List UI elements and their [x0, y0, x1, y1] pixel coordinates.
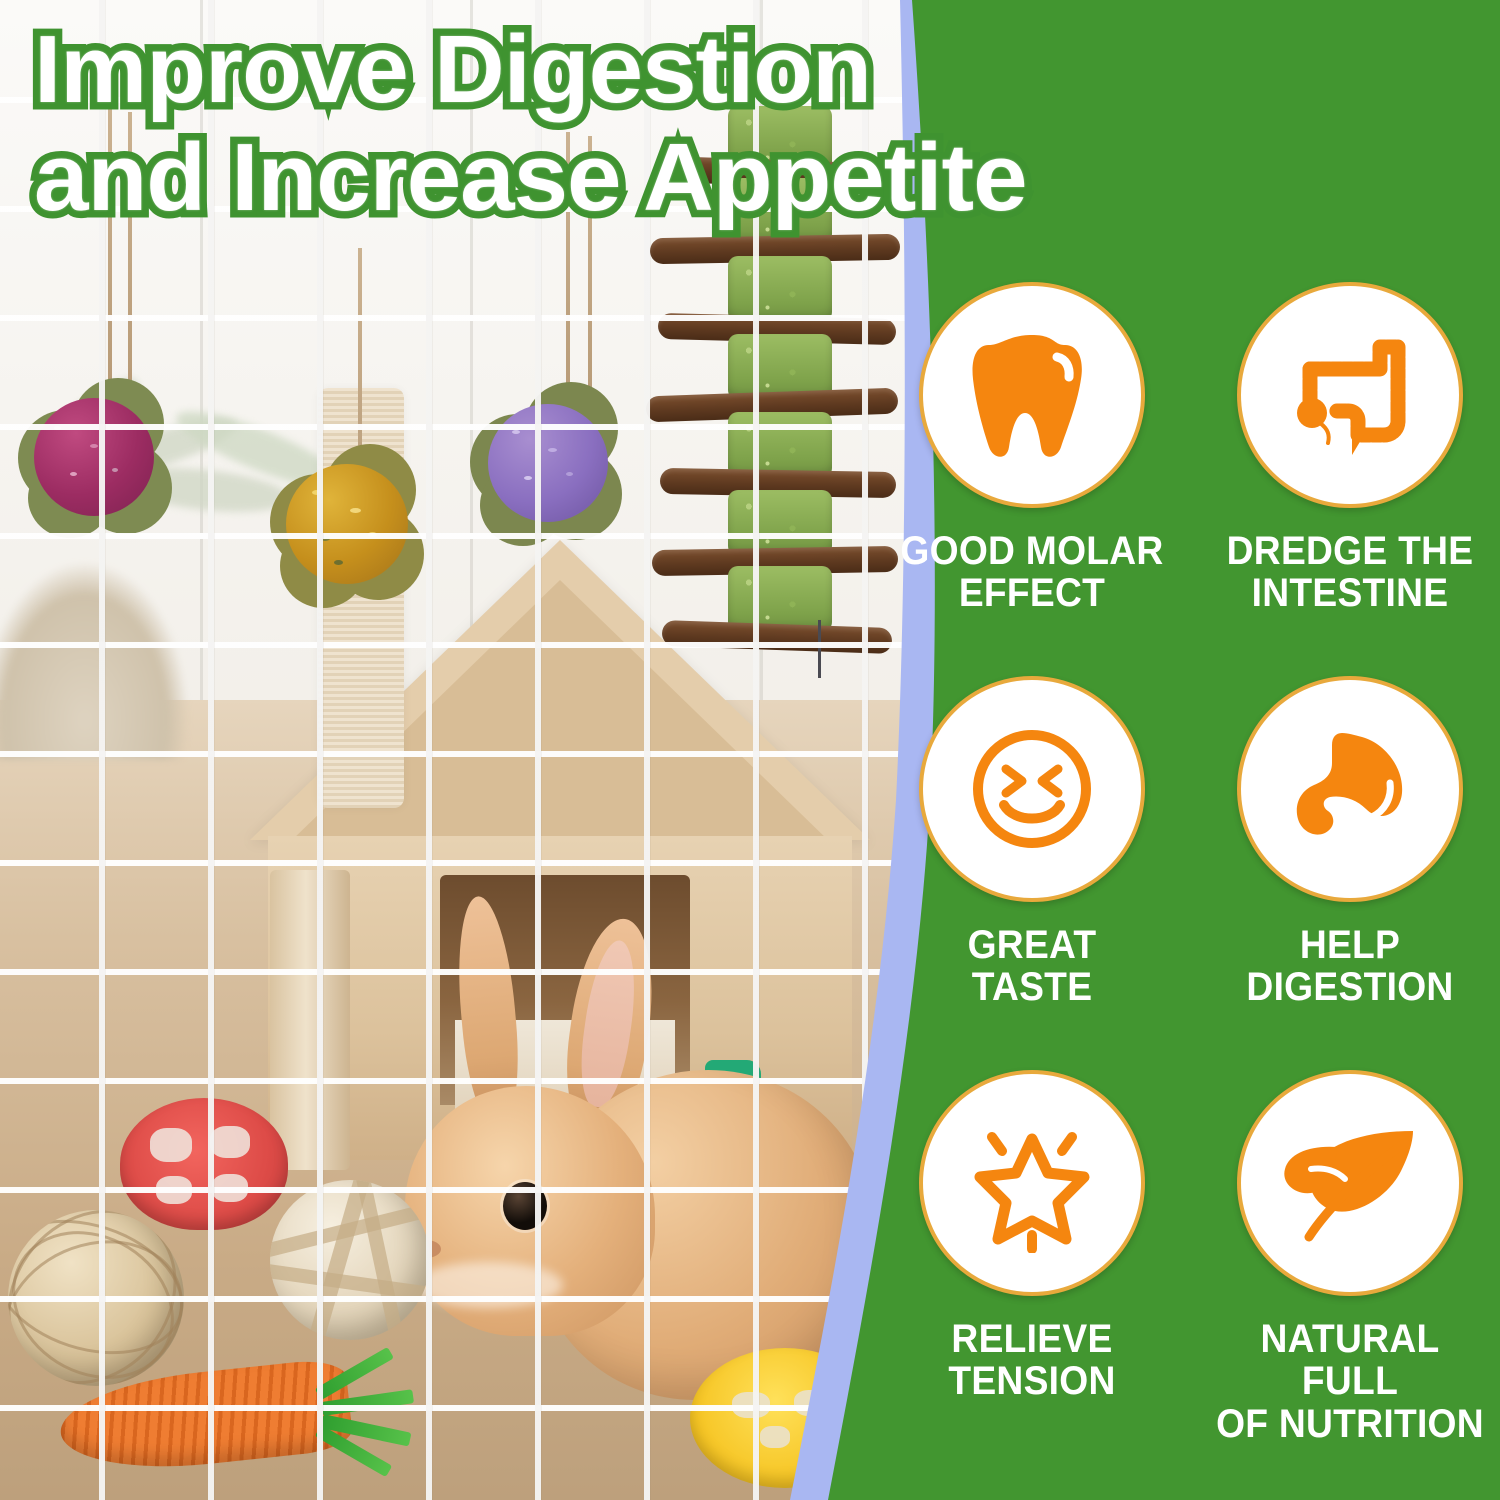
intestine-icon: [1280, 325, 1420, 465]
stomach-icon: [1280, 719, 1420, 859]
benefit-label: GOOD MOLAR EFFECT: [893, 530, 1172, 615]
benefit-label-line2: INTESTINE: [1211, 572, 1490, 614]
infographic-canvas: Improve Digestion and Increase Appetite …: [0, 0, 1500, 1500]
benefit-label: DREDGE THE INTESTINE: [1211, 530, 1490, 615]
benefit-icon-circle: [1237, 676, 1463, 902]
benefit-label: RELIEVE TENSION: [893, 1318, 1172, 1403]
benefit-label-line1: GREAT: [893, 924, 1172, 966]
benefit-label-line1: GOOD MOLAR: [893, 530, 1172, 572]
benefit-help-digestion[interactable]: HELP DIGESTION: [1200, 676, 1500, 1009]
benefit-label-line1: HELP: [1211, 924, 1490, 966]
benefit-icon-circle: [919, 1070, 1145, 1296]
star-sparkle-icon: [962, 1113, 1102, 1253]
benefit-label-line2: TASTE: [893, 966, 1172, 1008]
benefit-icon-circle: [919, 676, 1145, 902]
benefit-label: NATURAL FULL OF NUTRITION: [1211, 1318, 1490, 1445]
smiley-face-icon: [962, 719, 1102, 859]
benefit-icon-circle: [919, 282, 1145, 508]
benefit-label-line1: NATURAL FULL: [1211, 1318, 1490, 1403]
tooth-icon: [967, 325, 1097, 465]
benefit-icon-circle: [1237, 1070, 1463, 1296]
benefit-natural-full-of-nutrition[interactable]: NATURAL FULL OF NUTRITION: [1200, 1070, 1500, 1445]
benefit-relieve-tension[interactable]: RELIEVE TENSION: [882, 1070, 1182, 1403]
leaf-icon: [1275, 1113, 1425, 1253]
benefit-great-taste[interactable]: GREAT TASTE: [882, 676, 1182, 1009]
benefit-dredge-the-intestine[interactable]: DREDGE THE INTESTINE: [1200, 282, 1500, 615]
benefits-panel: GOOD MOLAR EFFECT DREDGE THE: [900, 0, 1500, 1500]
benefit-label-line2: DIGESTION: [1211, 966, 1490, 1008]
benefit-icon-circle: [1237, 282, 1463, 508]
benefit-label: HELP DIGESTION: [1211, 924, 1490, 1009]
benefit-label-line2: OF NUTRITION: [1211, 1403, 1490, 1445]
benefit-good-molar-effect[interactable]: GOOD MOLAR EFFECT: [882, 282, 1182, 615]
benefit-label-line2: EFFECT: [893, 572, 1172, 614]
benefit-label: GREAT TASTE: [893, 924, 1172, 1009]
benefit-label-line1: RELIEVE: [893, 1318, 1172, 1360]
benefit-label-line1: DREDGE THE: [1211, 530, 1490, 572]
benefit-label-line2: TENSION: [893, 1360, 1172, 1402]
